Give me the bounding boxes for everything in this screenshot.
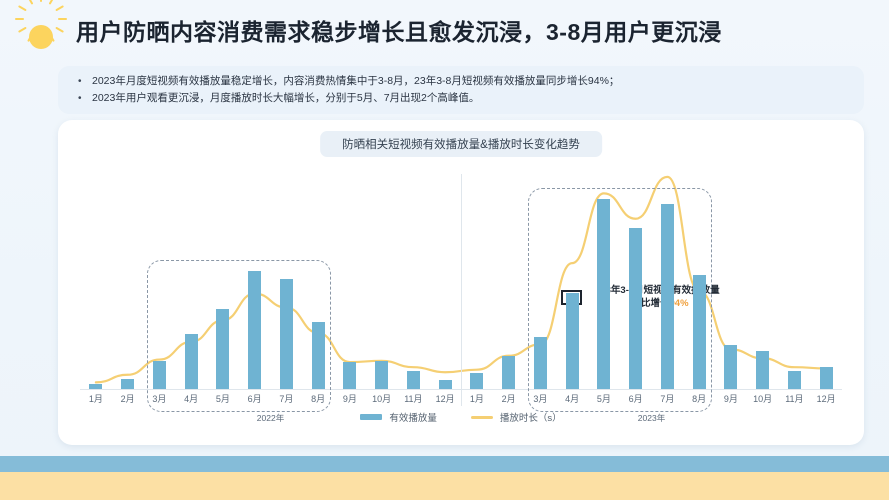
legend-label-duration: 播放时长（s） [500,410,562,424]
bullet-text: 2023年用户观看更沉浸，月度播放时长大幅增长，分别于5月、7月出现2个高峰值。 [92,90,479,107]
axis-label-23: 12月 [817,392,836,405]
legend-label-plays: 有效播放量 [389,410,437,424]
slide-header: 用户防晒内容消费需求稳步增长且愈发沉浸，3-8月用户更沉浸 [0,0,889,62]
axis-label-20: 9月 [724,392,738,405]
legend-swatch-line [471,416,493,419]
bullet-marker-icon: • [78,73,92,90]
axis-label-11: 12月 [436,392,455,405]
year-divider [461,174,462,406]
legend-item-plays[interactable]: 有效播放量 [360,410,437,424]
chart-card: 防晒相关短视频有效播放量&播放时长变化趋势 23年3-8月短视频有效播放量 同比… [58,120,864,445]
bar-1月 [470,373,483,389]
year-label-2022年: 2022年 [257,412,284,424]
page-title: 用户防晒内容消费需求稳步增长且愈发沉浸，3-8月用户更沉浸 [76,13,722,47]
axis-label-22: 11月 [785,392,803,405]
legend-swatch-bar [360,414,382,420]
bar-12月 [820,367,833,389]
sun-icon [12,8,70,66]
axis-label-1: 2月 [121,392,135,405]
chart-title: 防晒相关短视频有效播放量&播放时长变化趋势 [320,131,602,157]
bar-12月 [439,380,452,389]
bar-11月 [407,371,420,389]
bullet-marker-icon: • [78,90,92,107]
bar-1月 [89,384,102,389]
bar-2月 [121,379,134,389]
slide-root: 用户防晒内容消费需求稳步增长且愈发沉浸，3-8月用户更沉浸 • 2023年月度短… [0,0,889,500]
chart-legend: 有效播放量 播放时长（s） [58,410,864,424]
list-item: • 2023年月度短视频有效播放量稳定增长，内容消费热情集中于3-8月，23年3… [78,73,864,90]
bar-9月 [343,362,356,389]
axis-label-0: 1月 [89,392,103,405]
axis-label-12: 1月 [470,392,484,405]
bullet-text: 2023年月度短视频有效播放量稳定增长，内容消费热情集中于3-8月，23年3-8… [92,73,619,90]
bar-10月 [375,361,388,389]
decorative-band-yellow [0,472,889,500]
axis-label-8: 9月 [343,392,357,405]
bar-10月 [756,351,769,389]
bar-11月 [788,371,801,389]
legend-item-duration[interactable]: 播放时长（s） [471,410,562,424]
list-item: • 2023年用户观看更沉浸，月度播放时长大幅增长，分别于5月、7月出现2个高峰… [78,90,864,107]
decorative-band-blue [0,456,889,472]
summary-bullets-card: • 2023年月度短视频有效播放量稳定增长，内容消费热情集中于3-8月，23年3… [58,66,864,114]
bar-9月 [724,345,737,389]
year-label-2023年: 2023年 [638,412,665,424]
axis-label-10: 11月 [404,392,422,405]
highlight-box-2022年 [147,260,332,412]
axis-label-13: 2月 [502,392,516,405]
axis-label-9: 10月 [372,392,391,405]
highlight-box-2023年 [528,188,713,412]
axis-label-21: 10月 [753,392,772,405]
bar-2月 [502,356,515,389]
